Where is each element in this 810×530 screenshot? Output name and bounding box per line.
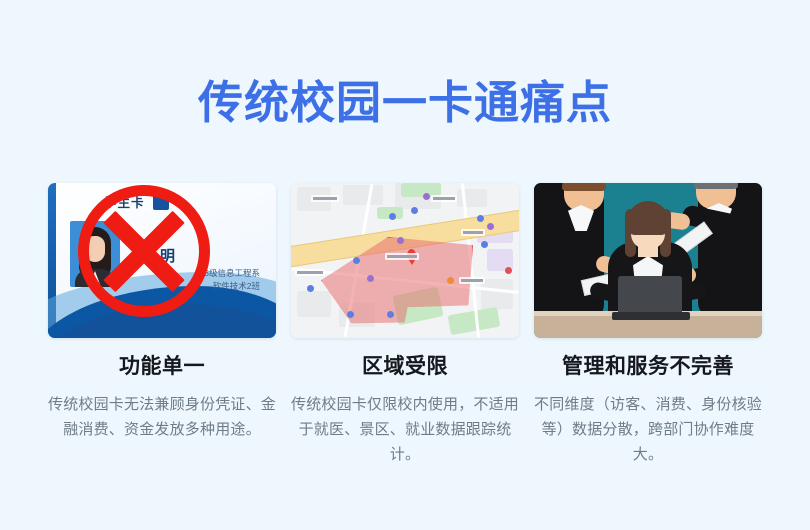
pain-point-title-3: 管理和服务不完善 — [534, 354, 762, 380]
right-person-hair — [694, 183, 738, 189]
pain-point-body-3: 不同维度（访客、消费、身份核验等）数据分散，跨部门协作难度大。 — [534, 392, 762, 467]
pain-point-title-1: 功能单一 — [48, 354, 276, 380]
laptop-base — [612, 312, 690, 320]
map-label — [311, 195, 339, 202]
map-poi-dot — [307, 285, 314, 292]
map-poi-dot — [347, 311, 354, 318]
map-block — [297, 291, 331, 317]
map-image — [291, 183, 519, 338]
laptop-screen — [618, 276, 682, 314]
map-poi-dot — [353, 257, 360, 264]
map-label — [461, 229, 485, 236]
map-poi-dot — [397, 237, 404, 244]
map-poi-dot — [477, 215, 484, 222]
map-poi-dot — [487, 223, 494, 230]
office-graphic — [534, 183, 762, 338]
map-label — [459, 277, 485, 284]
map-label — [295, 269, 325, 276]
map-poi-dot — [481, 241, 488, 248]
pain-point-title-2: 区域受限 — [291, 354, 519, 380]
map-label — [431, 195, 457, 202]
map-poi-dot — [387, 311, 394, 318]
map-poi-dot — [367, 275, 374, 282]
pain-point-card-management: 管理和服务不完善 不同维度（访客、消费、身份核验等）数据分散，跨部门协作难度大。 — [534, 183, 762, 467]
pain-point-body-2: 传统校园卡仅限校内使用，不适用于就医、景区、就业数据跟踪统计。 — [291, 392, 519, 467]
left-person-hair — [562, 183, 606, 191]
pain-point-columns: 学生卡 小明 23级信息工程系 软件技术2班 — [48, 183, 762, 467]
map-block — [481, 279, 513, 309]
map-poi-dot — [447, 277, 454, 284]
map-label — [385, 253, 419, 260]
pain-point-card-single-function: 学生卡 小明 23级信息工程系 软件技术2班 — [48, 183, 276, 467]
pain-point-card-area-limited: 区域受限 传统校园卡仅限校内使用，不适用于就医、景区、就业数据跟踪统计。 — [291, 183, 519, 467]
red-cross-circle-icon — [78, 185, 210, 317]
pain-point-body-1: 传统校园卡无法兼顾身份凭证、金融消费、资金发放多种用途。 — [48, 392, 276, 442]
map-poi-dot — [423, 193, 430, 200]
center-person-hair — [627, 201, 669, 235]
map-block — [343, 185, 383, 205]
map-poi-dot — [505, 267, 512, 274]
slide-canvas: 传统校园一卡通痛点 学生卡 — [0, 0, 810, 530]
map-poi-dot — [411, 207, 418, 214]
office-illustration-image — [534, 183, 762, 338]
student-id-card-graphic: 学生卡 小明 23级信息工程系 软件技术2班 — [48, 183, 276, 338]
map-graphic — [291, 183, 519, 338]
map-poi-dot — [389, 213, 396, 220]
student-id-card-image: 学生卡 小明 23级信息工程系 软件技术2班 — [48, 183, 276, 338]
page-title: 传统校园一卡通痛点 — [0, 76, 810, 130]
